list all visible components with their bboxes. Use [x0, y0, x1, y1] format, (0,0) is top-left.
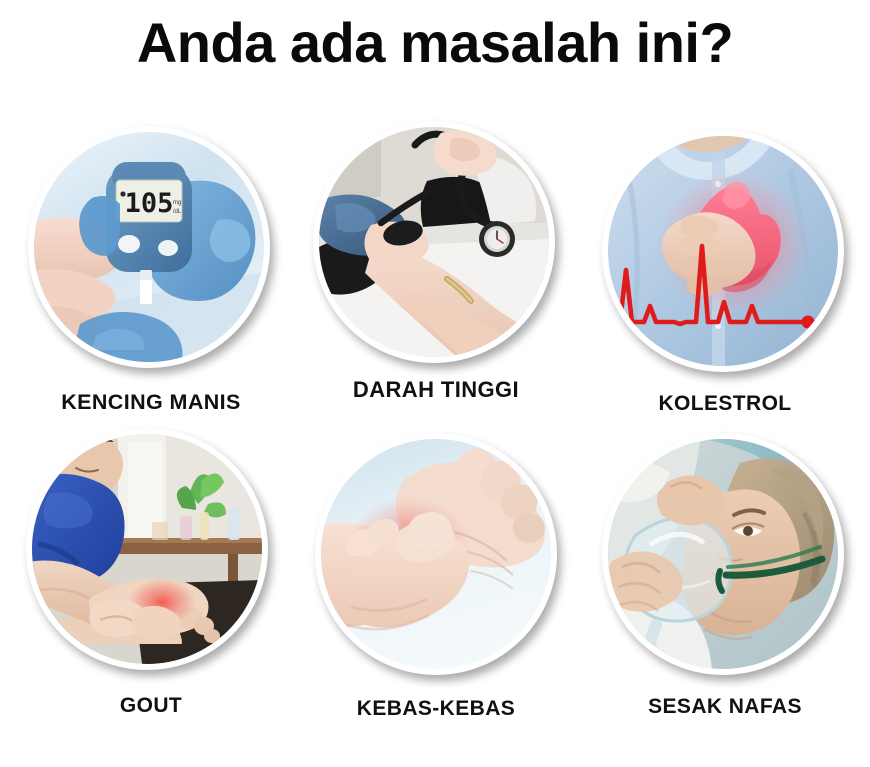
symptom-label: KOLESTROL [580, 392, 870, 416]
white-ring [602, 130, 844, 372]
svg-text:105: 105 [125, 188, 174, 219]
symptom-image-frame [602, 130, 844, 372]
symptom-image-frame: 105 mg /dL [28, 126, 270, 368]
hand-numbness-photo [321, 439, 551, 669]
symptom-card-kencing-manis[interactable]: 105 mg /dL [6, 110, 296, 415]
svg-text:/dL: /dL [173, 209, 182, 215]
chest-pain-heart-photo [608, 136, 838, 366]
white-ring [602, 433, 844, 675]
symptom-card-kolestrol[interactable]: KOLESTROL [580, 110, 870, 416]
symptom-image-frame [315, 433, 557, 675]
white-ring [26, 428, 268, 670]
white-ring: 105 mg /dL [28, 126, 270, 368]
foot-pain-photo [32, 434, 262, 664]
white-ring [315, 433, 557, 675]
symptom-card-kebas-kebas[interactable]: KEBAS-KEBAS [291, 420, 581, 721]
symptom-grid: 105 mg /dL [0, 110, 870, 760]
page-title: Anda ada masalah ini? [0, 14, 870, 73]
symptom-image-frame [26, 428, 268, 670]
glucose-meter-photo: 105 mg /dL [34, 132, 264, 362]
symptom-image-frame [602, 433, 844, 675]
blood-pressure-photo [319, 127, 549, 357]
symptom-label: KENCING MANIS [6, 390, 296, 415]
oxygen-mask-photo [608, 439, 838, 669]
symptom-image-frame [313, 121, 555, 363]
symptom-label: SESAK NAFAS [580, 695, 870, 719]
symptom-label: KEBAS-KEBAS [291, 697, 581, 721]
symptom-card-sesak-nafas[interactable]: SESAK NAFAS [580, 420, 870, 719]
symptom-label: GOUT [6, 694, 296, 718]
symptom-label: DARAH TINGGI [291, 377, 581, 403]
white-ring [313, 121, 555, 363]
svg-text:mg: mg [173, 200, 181, 206]
symptom-card-darah-tinggi[interactable]: DARAH TINGGI [291, 110, 581, 403]
symptom-card-gout[interactable]: GOUT [6, 420, 296, 718]
